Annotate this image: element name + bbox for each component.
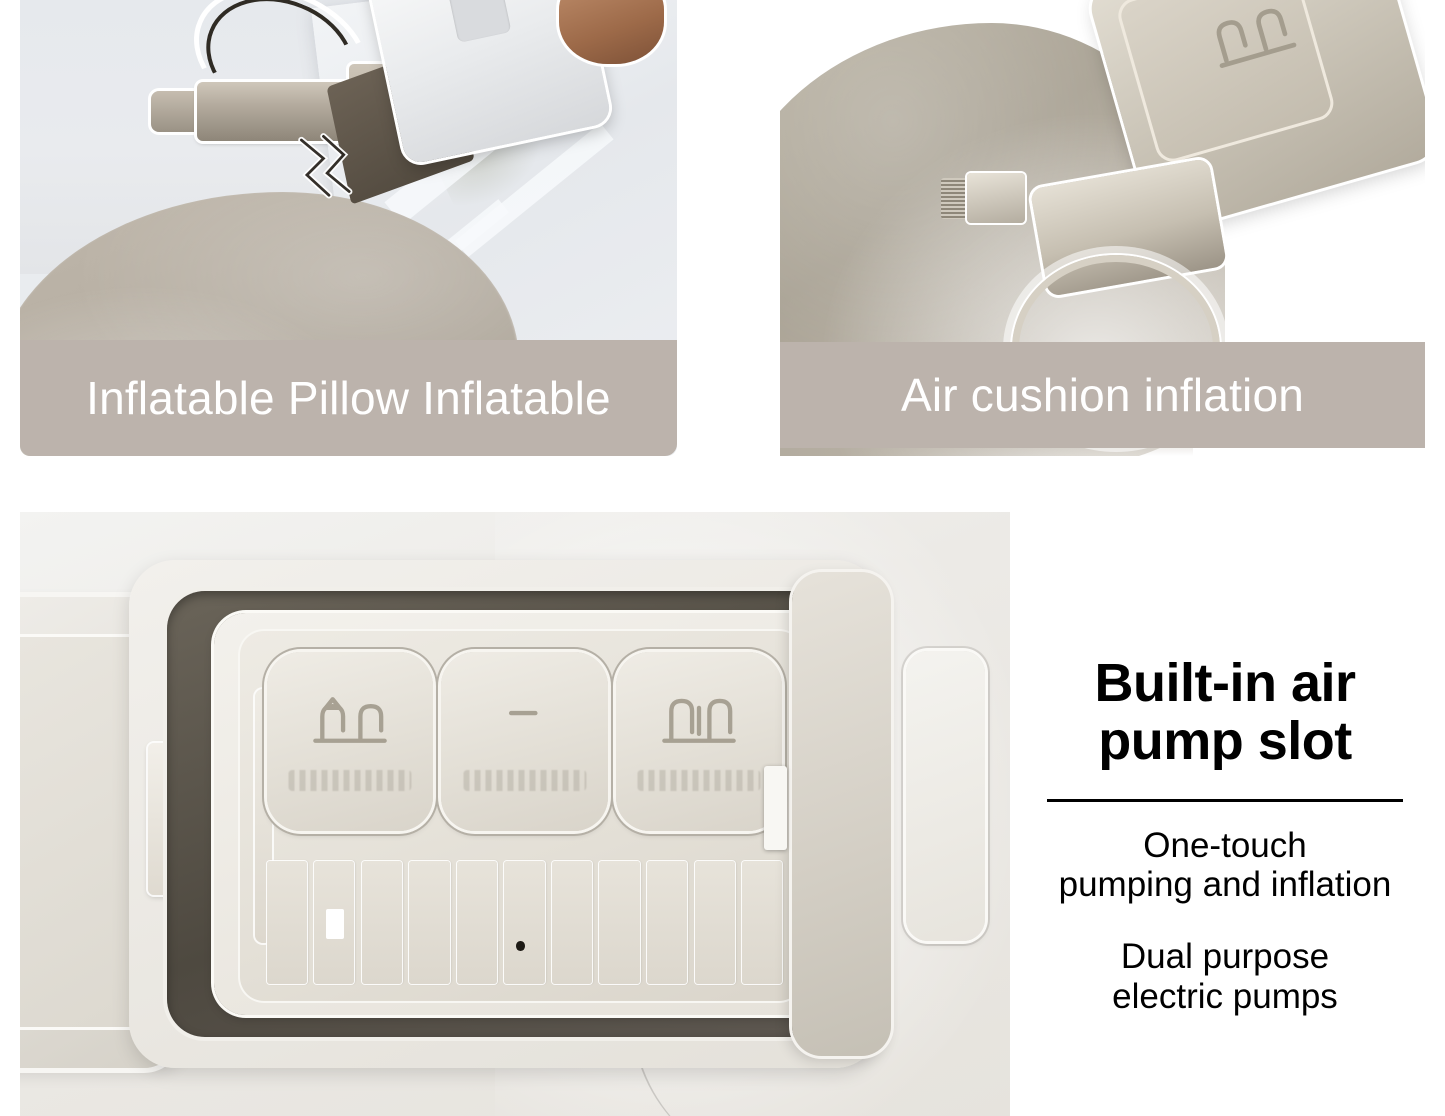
power-icon (481, 684, 568, 756)
vent-slot (552, 861, 592, 984)
cushion-valve (967, 173, 1025, 223)
vent-slot (457, 861, 497, 984)
button-embossed-label (288, 770, 411, 792)
vent-slot (647, 861, 687, 984)
deflate-icon (307, 684, 394, 756)
pump-button-power[interactable] (441, 652, 607, 831)
valve-clip-icon (283, 123, 375, 223)
vent-slot (267, 861, 307, 984)
button-embossed-label (463, 770, 586, 792)
case-side-grip (792, 572, 891, 1055)
slot-latch-right (764, 766, 788, 851)
vent-slot (742, 861, 782, 984)
caption-air-cushion: Air cushion inflation (780, 342, 1425, 448)
vent-slot (695, 861, 735, 984)
pump-button (448, 0, 512, 42)
pump-button-group (267, 652, 783, 831)
caption-inflatable-pillow: Inflatable Pillow Inflatable (20, 340, 677, 456)
pump-face (238, 629, 805, 1003)
vent-slot (362, 861, 402, 984)
vent-slot (409, 861, 449, 984)
photo-built-in-air-pump-slot (20, 512, 1010, 1116)
vent-slot (504, 861, 544, 984)
button-embossed-label (638, 770, 761, 792)
pump-button-deflate[interactable] (267, 652, 433, 831)
pump-housing (214, 613, 823, 1015)
case-recessed-panel (906, 651, 985, 941)
pump-button-inflate[interactable] (616, 652, 782, 831)
feature-text-column: Built-in air pump slot One-touch pumping… (1020, 655, 1430, 1017)
feature-subtitle-one-touch: One-touch pumping and inflation (1020, 826, 1430, 906)
inflate-icon (656, 684, 743, 756)
feature-subtitle-dual-purpose: Dual purpose electric pumps (1020, 937, 1430, 1017)
reset-pinhole (516, 941, 525, 951)
caption-text: Inflatable Pillow Inflatable (86, 371, 611, 425)
vent-slot (599, 861, 639, 984)
slot-recess-cavity (167, 591, 844, 1037)
page-title: Built-in air pump slot (1020, 655, 1430, 771)
divider (1047, 799, 1403, 802)
caption-text: Air cushion inflation (901, 368, 1304, 422)
vent-highlight (326, 909, 344, 939)
